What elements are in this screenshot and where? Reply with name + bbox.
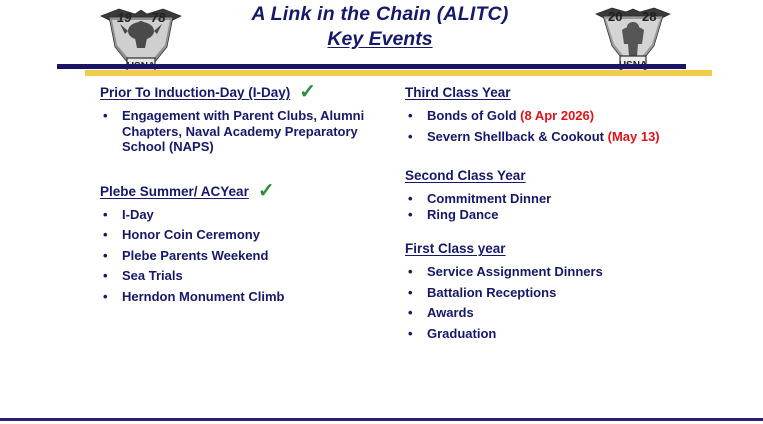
section-third-class-year: Third Class Year•Bonds of Gold (8 Apr 20… (405, 84, 715, 144)
list-item: •Service Assignment Dinners (405, 264, 715, 280)
section-plebe-summer-acyear: Plebe Summer/ ACYear✓•I-Day•Honor Coin C… (100, 183, 390, 305)
footer-divider (0, 418, 763, 421)
list-item-label: Battalion Receptions (427, 285, 556, 300)
list-item: •Ring Dance (405, 207, 715, 223)
list-item-label: Engagement with Parent Clubs, Alumni Cha… (122, 108, 364, 154)
list-item-label: Commitment Dinner (427, 191, 551, 206)
list-item-label: I-Day (122, 207, 154, 222)
list-item-label: Graduation (427, 326, 496, 341)
title-line-secondary: Key Events (170, 27, 590, 52)
section-first-class-year: First Class year•Service Assignment Dinn… (405, 240, 715, 341)
list-item: •I-Day (100, 207, 390, 223)
bullet-icon: • (408, 129, 413, 145)
list-item: •Battalion Receptions (405, 285, 715, 301)
list-item: •Plebe Parents Weekend (100, 248, 390, 264)
svg-text:20: 20 (608, 9, 622, 24)
bullet-icon: • (408, 285, 413, 301)
list-item-date: (8 Apr 2026) (520, 108, 594, 123)
section-heading-label: First Class year (405, 241, 506, 256)
section-item-list: •Bonds of Gold (8 Apr 2026)•Severn Shell… (405, 108, 715, 144)
bullet-icon: • (408, 191, 413, 207)
green-check-icon: ✓ (299, 87, 316, 97)
slide-title: A Link in the Chain (ALITC) Key Events (170, 2, 590, 52)
bullet-icon: • (103, 227, 108, 243)
list-item-label: Bonds of Gold (427, 108, 520, 123)
list-item-label: Sea Trials (122, 268, 183, 283)
list-item: •Awards (405, 305, 715, 321)
bullet-icon: • (408, 108, 413, 124)
section-item-list: •I-Day•Honor Coin Ceremony•Plebe Parents… (100, 207, 390, 305)
section-spacer (405, 149, 715, 167)
svg-text:78: 78 (151, 10, 166, 25)
bullet-icon: • (103, 207, 108, 223)
bullet-icon: • (103, 289, 108, 305)
list-item-label: Plebe Parents Weekend (122, 248, 268, 263)
section-item-list: •Commitment Dinner•Ring Dance (405, 191, 715, 222)
slide-canvas: 19 78 USNA 20 28 USNA (0, 0, 763, 424)
list-item: •Engagement with Parent Clubs, Alumni Ch… (100, 108, 390, 155)
list-item: •Bonds of Gold (8 Apr 2026) (405, 108, 715, 124)
section-second-class-year: Second Class Year•Commitment Dinner•Ring… (405, 167, 715, 222)
list-item-date: (May 13) (608, 129, 660, 144)
header-divider-navy (57, 64, 686, 69)
section-item-list: •Service Assignment Dinners•Battalion Re… (405, 264, 715, 341)
list-item: •Honor Coin Ceremony (100, 227, 390, 243)
section-heading-row: Second Class Year (405, 167, 715, 185)
section-heading-label: Plebe Summer/ ACYear (100, 184, 249, 199)
section-heading-row: Prior To Induction-Day (I-Day)✓ (100, 84, 390, 102)
section-heading-label: Third Class Year (405, 85, 511, 100)
list-item-label: Herndon Monument Climb (122, 289, 285, 304)
right-content-column: Third Class Year•Bonds of Gold (8 Apr 20… (405, 84, 715, 346)
section-spacer (100, 155, 390, 183)
header-divider-gold (85, 70, 712, 76)
list-item: •Severn Shellback & Cookout (May 13) (405, 129, 715, 145)
bullet-icon: • (408, 264, 413, 280)
list-item-label: Honor Coin Ceremony (122, 227, 260, 242)
section-item-list: •Engagement with Parent Clubs, Alumni Ch… (100, 108, 390, 155)
section-heading-row: Third Class Year (405, 84, 715, 102)
bullet-icon: • (103, 268, 108, 284)
list-item: •Commitment Dinner (405, 191, 715, 207)
svg-text:19: 19 (117, 10, 132, 25)
list-item-label: Severn Shellback & Cookout (427, 129, 608, 144)
section-heading-label: Prior To Induction-Day (I-Day) (100, 85, 290, 100)
list-item: •Graduation (405, 326, 715, 342)
section-prior-to-induction-day-i-day: Prior To Induction-Day (I-Day)✓•Engageme… (100, 84, 390, 155)
left-content-column: Prior To Induction-Day (I-Day)✓•Engageme… (100, 84, 390, 309)
list-item: •Sea Trials (100, 268, 390, 284)
bullet-icon: • (408, 305, 413, 321)
section-heading-label: Second Class Year (405, 168, 526, 183)
list-item-label: Service Assignment Dinners (427, 264, 603, 279)
green-check-icon: ✓ (258, 186, 275, 196)
list-item: •Herndon Monument Climb (100, 289, 390, 305)
bullet-icon: • (103, 248, 108, 264)
section-heading-row: First Class year (405, 240, 715, 258)
bullet-icon: • (103, 108, 108, 124)
list-item-label: Ring Dance (427, 207, 499, 222)
section-heading-row: Plebe Summer/ ACYear✓ (100, 183, 390, 201)
bullet-icon: • (408, 326, 413, 342)
title-line-primary: A Link in the Chain (ALITC) (170, 2, 590, 27)
section-spacer (405, 222, 715, 240)
svg-text:28: 28 (642, 9, 656, 24)
list-item-label: Awards (427, 305, 474, 320)
bullet-icon: • (408, 207, 413, 223)
